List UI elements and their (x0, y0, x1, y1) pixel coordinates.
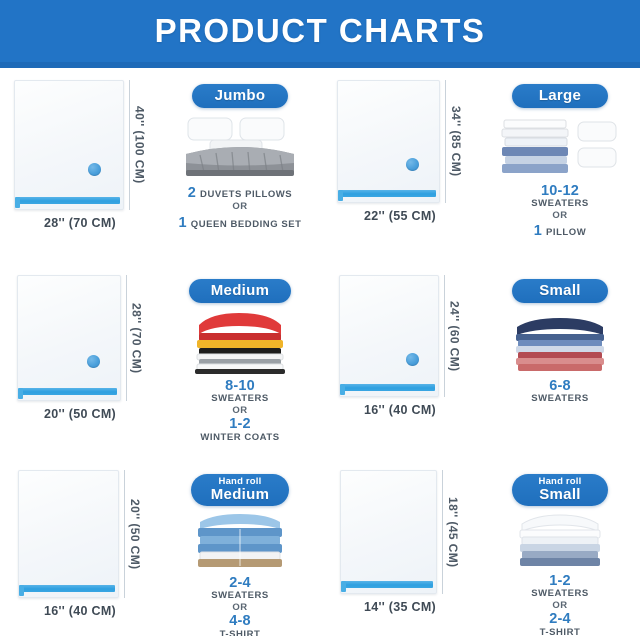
width-label: 14'' (35 CM) (352, 600, 449, 614)
measure-line (124, 470, 125, 598)
bag-diagram-area: 18'' (45 CM) 14'' (35 CM) (320, 458, 480, 636)
capacity-line: 2-4 SWEATERS (211, 576, 269, 602)
measure-line (129, 80, 130, 210)
height-measure: 18'' (45 CM) (442, 470, 460, 594)
capacity-label: SWEATERS (531, 589, 589, 599)
capacity-number: 1 (534, 224, 542, 240)
size-badge-medium[interactable]: Medium (189, 279, 291, 303)
bag-seal-tab (19, 585, 24, 596)
capacity-info-area: Hand roll Small 1-2 SWEATERS OR 2-4 (480, 458, 640, 636)
capacity-line: 10-12 SWEATERS (531, 184, 589, 210)
bag-diagram-area: 20'' (50 CM) 16'' (40 CM) (0, 458, 160, 636)
height-label: 20'' (50 CM) (128, 499, 142, 570)
capacity-number: 2 (188, 186, 196, 202)
page-title: PRODUCT CHARTS (155, 12, 486, 50)
bag-diagram-area: 34'' (85 CM) 22'' (55 CM) (320, 68, 480, 263)
vacuum-bag-graphic (339, 275, 439, 397)
measure-line (445, 80, 446, 203)
capacity-info-area: Medium 8-10 SWEATERS OR 1-2 (160, 263, 320, 458)
capacity-number: 10-12 (531, 184, 589, 200)
capacity-label: SWEATERS (531, 199, 589, 209)
capacity-caption: 2-4 SWEATERS OR 4-8 T-SHIRT (211, 576, 269, 636)
height-measure: 34'' (85 CM) (445, 80, 463, 203)
bag-seal-tab (18, 388, 23, 399)
bag-seal-tab (338, 190, 343, 201)
capacity-line: 1-2 WINTER COATS (200, 417, 279, 443)
height-measure: 28'' (70 CM) (126, 275, 144, 401)
product-cell-hand-roll-medium: 20'' (50 CM) 16'' (40 CM) Hand roll Medi… (0, 458, 320, 636)
folded-sweaters-and-pillows-icon (500, 114, 620, 180)
badge-title: Medium (211, 487, 269, 503)
capacity-label: SWEATERS (200, 394, 279, 404)
capacity-info-area: Large 10-12 SWEATERS (480, 68, 640, 263)
bag-seal-strip (344, 581, 433, 588)
capacity-number: 1-2 (200, 417, 279, 433)
capacity-number: 4-8 (211, 614, 269, 630)
bag-seal-strip (21, 388, 117, 395)
product-cell-large: 34'' (85 CM) 22'' (55 CM) Large (320, 68, 640, 263)
vacuum-bag-graphic (17, 275, 121, 401)
capacity-number: 8-10 (200, 379, 279, 395)
capacity-label: T-SHIRT (211, 630, 269, 636)
bag-seal-tab (340, 384, 345, 395)
colored-folded-clothes-stack-icon (185, 309, 295, 375)
bag-diagram-area: 40'' (100 CM) 28'' (70 CM) (0, 68, 160, 263)
height-label: 28'' (70 CM) (130, 303, 144, 374)
width-label: 16'' (40 CM) (30, 604, 131, 618)
capacity-line: 2 DUVETS PILLOWS (188, 186, 292, 202)
bag-seal-tab (341, 581, 346, 592)
height-label: 18'' (45 CM) (446, 497, 460, 568)
capacity-caption: 2 DUVETS PILLOWS OR 1 QUEEN BEDDING SET (179, 184, 302, 232)
navy-and-red-folded-shirts-icon (507, 309, 613, 375)
product-charts-page: PRODUCT CHARTS 40'' (100 CM) 28'' (70 CM… (0, 0, 640, 636)
vacuum-valve-icon (88, 163, 101, 176)
capacity-label: SWEATERS (211, 591, 269, 601)
vacuum-bag-graphic (337, 80, 440, 203)
vacuum-bag-graphic (340, 470, 437, 594)
badge-title: Small (534, 283, 586, 299)
size-badge-hand-roll-medium[interactable]: Hand roll Medium (191, 474, 289, 506)
capacity-info-area: Hand roll Medium 2-4 SWEATERS OR 4- (160, 458, 320, 636)
capacity-line: 8-10 SWEATERS (200, 379, 279, 405)
bag-seal-strip (343, 384, 435, 391)
size-badge-jumbo[interactable]: Jumbo (192, 84, 288, 108)
capacity-label: T-SHIRT (531, 628, 589, 636)
capacity-label: QUEEN BEDDING SET (191, 220, 302, 230)
height-measure: 20'' (50 CM) (124, 470, 142, 598)
product-cell-jumbo: 40'' (100 CM) 28'' (70 CM) Jumbo (0, 68, 320, 263)
size-badge-small[interactable]: Small (512, 279, 608, 303)
capacity-info-area: Jumbo 2 DUVETS PILLOWS OR 1 (160, 68, 320, 263)
capacity-number: 1-2 (531, 574, 589, 590)
capacity-caption: 10-12 SWEATERS OR 1 PILLOW (531, 184, 589, 240)
product-cell-medium: 28'' (70 CM) 20'' (50 CM) Medium (0, 263, 320, 458)
capacity-caption: 1-2 SWEATERS OR 2-4 T-SHIRT (531, 574, 589, 636)
capacity-caption: 8-10 SWEATERS OR 1-2 WINTER COATS (200, 379, 279, 443)
bag-diagram-area: 24'' (60 CM) 16'' (40 CM) (320, 263, 480, 458)
height-measure: 24'' (60 CM) (444, 275, 462, 397)
capacity-info-area: Small 6-8 SWEATERS (480, 263, 640, 458)
measure-line (442, 470, 443, 594)
blue-folded-shirts-stack-icon (188, 512, 292, 572)
capacity-or: OR (531, 601, 589, 611)
height-label: 40'' (100 CM) (133, 106, 147, 184)
size-badge-hand-roll-small[interactable]: Hand roll Small (512, 474, 608, 506)
width-label: 20'' (50 CM) (28, 407, 132, 421)
bag-diagram-area: 28'' (70 CM) 20'' (50 CM) (0, 263, 160, 458)
bag-seal-strip (341, 190, 436, 197)
vacuum-valve-icon (406, 158, 419, 171)
vacuum-bag-graphic (18, 470, 119, 598)
height-measure: 40'' (100 CM) (129, 80, 147, 210)
width-label: 16'' (40 CM) (350, 403, 450, 417)
capacity-or: OR (179, 202, 302, 212)
capacity-or: OR (200, 406, 279, 416)
height-label: 34'' (85 CM) (449, 106, 463, 177)
white-folded-shirts-stack-icon (508, 512, 612, 570)
capacity-label: PILLOW (546, 228, 586, 238)
capacity-line: 1 QUEEN BEDDING SET (179, 216, 302, 232)
vacuum-valve-icon (406, 353, 419, 366)
capacity-line: 6-8 SWEATERS (531, 379, 589, 405)
width-label: 22'' (55 CM) (349, 209, 452, 223)
bag-seal-strip (18, 197, 120, 204)
measure-line (126, 275, 127, 401)
badge-title: Small (532, 487, 588, 503)
capacity-or: OR (211, 603, 269, 613)
capacity-label: DUVETS PILLOWS (200, 190, 292, 200)
capacity-line: 1 PILLOW (534, 224, 587, 240)
measure-line (444, 275, 445, 397)
capacity-label: WINTER COATS (200, 433, 279, 443)
capacity-line: 2-4 T-SHIRT (531, 612, 589, 636)
capacity-number: 2-4 (211, 576, 269, 592)
bag-seal-tab (15, 197, 20, 208)
capacity-number: 2-4 (531, 612, 589, 628)
capacity-number: 1 (179, 216, 187, 232)
page-header: PRODUCT CHARTS (0, 0, 640, 62)
vacuum-bag-graphic (14, 80, 124, 210)
capacity-line: 4-8 T-SHIRT (211, 614, 269, 636)
product-cell-hand-roll-small: 18'' (45 CM) 14'' (35 CM) Hand roll Smal… (320, 458, 640, 636)
capacity-label: SWEATERS (531, 394, 589, 404)
capacity-or: OR (531, 211, 589, 221)
product-cell-small: 24'' (60 CM) 16'' (40 CM) Small (320, 263, 640, 458)
badge-title: Large (534, 88, 586, 104)
capacity-number: 6-8 (531, 379, 589, 395)
duvet-and-pillows-icon (180, 114, 300, 180)
height-label: 24'' (60 CM) (448, 301, 462, 372)
badge-title: Medium (211, 283, 269, 299)
capacity-caption: 6-8 SWEATERS (531, 379, 589, 405)
bag-seal-strip (22, 585, 115, 592)
vacuum-valve-icon (87, 355, 100, 368)
size-badge-large[interactable]: Large (512, 84, 608, 108)
badge-title: Jumbo (214, 88, 266, 104)
capacity-line: 1-2 SWEATERS (531, 574, 589, 600)
product-grid: 40'' (100 CM) 28'' (70 CM) Jumbo (0, 68, 640, 636)
width-label: 28'' (70 CM) (25, 216, 135, 230)
